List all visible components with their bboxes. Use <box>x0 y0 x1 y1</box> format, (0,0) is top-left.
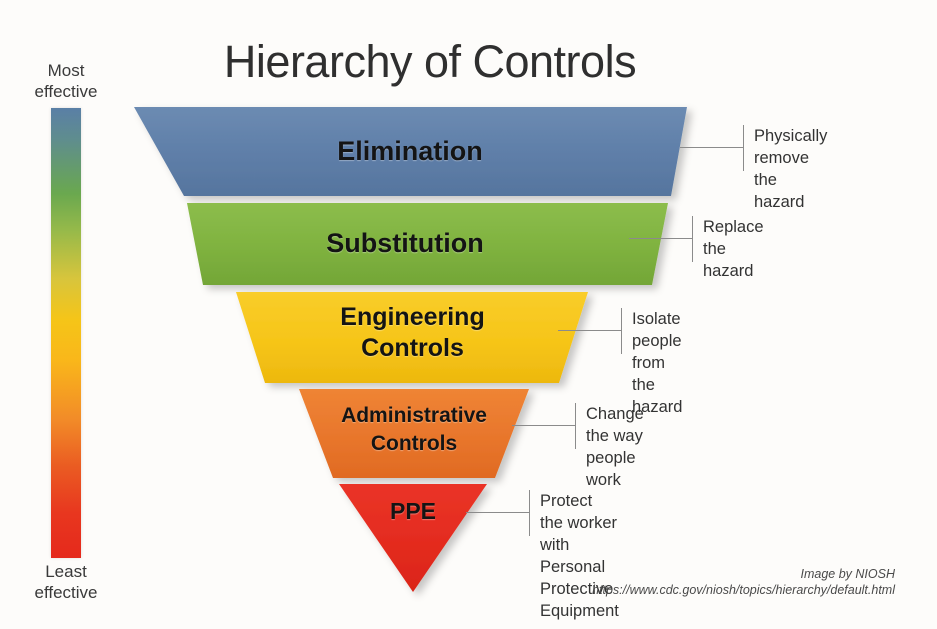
callout-leader-line-horizontal <box>512 425 575 426</box>
hierarchy-of-controls-infographic: Hierarchy of Controls Most effective Lea… <box>0 0 937 629</box>
inverted-funnel-graphic <box>0 0 937 629</box>
funnel-tier-engineering-controls[interactable] <box>236 292 588 383</box>
callout-text-engineering-controls: Isolate people from the hazard <box>632 308 682 418</box>
funnel-tier-elimination[interactable] <box>134 107 687 196</box>
image-credit: Image by NIOSH https://www.cdc.gov/niosh… <box>592 566 895 598</box>
funnel-tier-ppe[interactable] <box>339 484 487 592</box>
callout-leader-line-horizontal <box>558 330 621 331</box>
callout-leader-line-vertical <box>743 125 744 171</box>
callout-leader-line-horizontal <box>466 512 529 513</box>
callout-leader-line-vertical <box>575 403 576 449</box>
callout-text-substitution: Replace the hazard <box>703 216 764 282</box>
credit-url[interactable]: https://www.cdc.gov/niosh/topics/hierarc… <box>592 582 895 598</box>
callout-leader-line-vertical <box>692 216 693 262</box>
callout-leader-line-vertical <box>529 490 530 536</box>
funnel-tier-administrative-controls[interactable] <box>299 389 529 478</box>
callout-text-ppe: Protect the worker with Personal Protect… <box>540 490 619 622</box>
callout-text-administrative-controls: Change the way people work <box>586 403 644 491</box>
callout-leader-line-vertical <box>621 308 622 354</box>
callout-leader-line-horizontal <box>680 147 743 148</box>
callout-leader-line-horizontal <box>629 238 692 239</box>
funnel-tier-substitution[interactable] <box>187 203 668 285</box>
credit-source: Image by NIOSH <box>592 566 895 582</box>
callout-text-elimination: Physically remove the hazard <box>754 125 827 213</box>
